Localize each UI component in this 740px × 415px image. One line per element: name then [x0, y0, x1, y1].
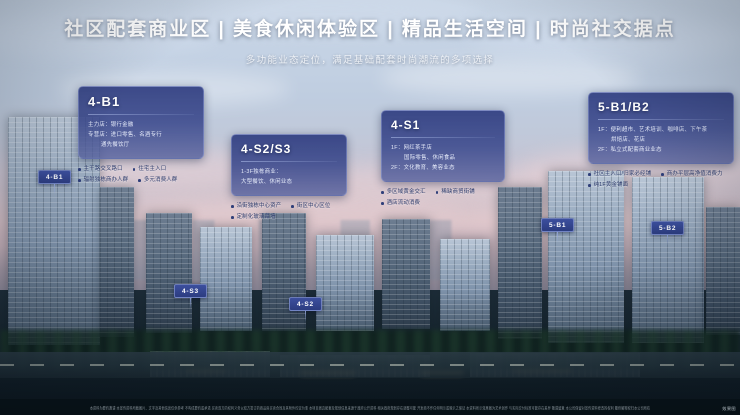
info-card-4-s2-s3[interactable]: 4-S2/S3 1-3F独栋商业： 大型餐饮、休闲业态 沿街独栋中心资产 街区中…: [231, 134, 347, 222]
pin-4-s3[interactable]: 4-S3: [174, 284, 207, 308]
tower-right-d: [632, 177, 704, 343]
card-tag-list: 沿街独栋中心资产 街区中心区位 定制化玻璃幕墙: [231, 202, 347, 222]
card-tag-label: 定制化玻璃幕墙: [237, 213, 276, 222]
bullet-icon: [381, 202, 384, 205]
pin-label: 4-B1: [38, 170, 71, 184]
footer-disclaimer-bar: 本资料为要约邀请 本宣传资料所载图片、文字及其他信息仅供参考 不构成要约或承诺 …: [0, 399, 740, 415]
card-tag: 沿街独栋中心资产: [231, 202, 281, 211]
card-tag-label: 社区主入口/归家必经铺: [594, 170, 652, 179]
card-divider: [391, 137, 495, 138]
card-tag: 社区主入口/归家必经铺: [588, 170, 651, 179]
card-title: 4-S2/S3: [241, 142, 337, 156]
card-tag-label: 住宅主入口: [138, 165, 166, 174]
card-title: 4-S1: [391, 118, 495, 132]
tower-mid-a: [200, 227, 252, 331]
tower-right-b: [498, 187, 542, 339]
card-line: 1-3F独栋商业：: [241, 167, 337, 177]
card-line: 主力店：银行金融: [88, 120, 194, 130]
info-card-5-b1-b2[interactable]: 5-B1/B2 1F：便利超市、艺术培训、咖啡店、下午茶 烘焙店、花店 2F：私…: [588, 92, 734, 190]
card-tag-label: 稀缺商贸街铺: [441, 188, 475, 197]
pin-stem: [54, 184, 55, 194]
card-tag-label: 纯1F黄金铺面: [594, 181, 629, 190]
pin-label: 5-B2: [651, 221, 684, 235]
page-title: 社区配套商业区 | 美食休闲体验区 | 精品生活空间 | 时尚社交据点: [0, 18, 740, 43]
info-card-4-b1[interactable]: 4-B1 主力店：银行金融 专营店：进口零售、名酒专行 通先餐饮厅 主干路交叉路…: [78, 86, 204, 185]
card-tag: 定制化玻璃幕墙: [231, 213, 276, 222]
bullet-icon: [231, 205, 234, 208]
card-line: 专营店：进口零售、名酒专行: [88, 130, 194, 140]
card-body: 4-B1 主力店：银行金融 专营店：进口零售、名酒专行 通先餐饮厅: [78, 86, 204, 159]
card-tag-label: 街区中心区位: [297, 202, 331, 211]
card-line: 1F：便利超市、艺术培训、咖啡店、下午茶: [598, 125, 724, 135]
page-subtitle: 多功能业态定位，满足基础配套时尚潮流的多项选择: [0, 52, 740, 66]
card-tag: 多元消费人群: [138, 176, 177, 185]
card-tag-list: 主干路交叉路口 住宅主入口 辐射独栋商办人群 多元消费人群: [78, 165, 204, 185]
card-line: 通先餐饮厅: [88, 140, 194, 150]
road-marking: [0, 364, 740, 366]
bullet-icon: [661, 173, 664, 176]
card-line: 2F：私立式配套商业业态: [598, 145, 724, 155]
card-divider: [88, 114, 194, 115]
card-tag: 主干路交叉路口: [78, 165, 123, 174]
card-tag: 辐射独栋商办人群: [78, 176, 128, 185]
card-divider: [241, 161, 337, 162]
card-body: 4-S2/S3 1-3F独栋商业： 大型餐饮、休闲业态: [231, 134, 347, 196]
pin-4-s2[interactable]: 4-S2: [289, 297, 322, 321]
card-line: 1F：网红茶手店: [391, 143, 495, 153]
bullet-icon: [231, 216, 234, 219]
card-tag: 住宅主入口: [133, 165, 167, 174]
footer-disclaimer-text: 本资料为要约邀请 本宣传资料所载图片、文字及其他信息仅供参考 不构成要约或承诺 …: [90, 404, 650, 410]
tower-right-a: [440, 239, 490, 331]
bullet-icon: [381, 191, 384, 194]
footer-badge: 效果图: [722, 406, 736, 412]
card-tag: 商办平层高净值消费力: [661, 170, 723, 179]
pin-stem: [305, 311, 306, 321]
bullet-icon: [133, 168, 136, 171]
card-tag-list: 多区域黄金交汇 稀缺商贸街铺 酒店流动消费: [381, 188, 505, 208]
bullet-icon: [78, 179, 81, 182]
tower-right-c: [548, 171, 624, 343]
bullet-icon: [588, 184, 591, 187]
header: 社区配套商业区 | 美食休闲体验区 | 精品生活空间 | 时尚社交据点 多功能业…: [0, 18, 740, 66]
card-tag-label: 多元消费人群: [144, 176, 178, 185]
card-tag-label: 主干路交叉路口: [84, 165, 123, 174]
bullet-icon: [138, 179, 141, 182]
pin-stem: [557, 232, 558, 242]
pin-label: 4-S2: [289, 297, 322, 311]
card-body: 4-S1 1F：网红茶手店 国际零售、休闲食品 2F：文化教育、美容业态: [381, 110, 505, 182]
card-tag: 稀缺商贸街铺: [436, 188, 475, 197]
card-line: 大型餐饮、休闲业态: [241, 177, 337, 187]
pin-4-b1[interactable]: 4-B1: [38, 170, 71, 194]
bullet-icon: [436, 191, 439, 194]
card-tag: 纯1F黄金铺面: [588, 181, 628, 190]
card-title: 5-B1/B2: [598, 100, 724, 114]
tower-left-back: [100, 187, 134, 337]
pin-5-b2[interactable]: 5-B2: [651, 221, 684, 245]
pin-label: 5-B1: [541, 218, 574, 232]
card-line: 国际零售、休闲食品: [391, 153, 495, 163]
tower-far-right: [706, 207, 740, 335]
card-line: 2F：文化教育、美容业态: [391, 163, 495, 173]
card-divider: [598, 119, 724, 120]
card-tag-list: 社区主入口/归家必经铺 商办平层高净值消费力 纯1F黄金铺面: [588, 170, 734, 190]
tower-center-right: [382, 219, 430, 329]
bullet-icon: [291, 205, 294, 208]
pin-stem: [190, 298, 191, 308]
pin-stem: [667, 235, 668, 245]
pin-label: 4-S3: [174, 284, 207, 298]
card-tag: 街区中心区位: [291, 202, 330, 211]
pin-5-b1[interactable]: 5-B1: [541, 218, 574, 242]
presentation-canvas: 社区配套商业区 | 美食休闲体验区 | 精品生活空间 | 时尚社交据点 多功能业…: [0, 0, 740, 415]
card-tag-label: 酒店流动消费: [387, 199, 421, 208]
card-tag-label: 商办平层高净值消费力: [667, 170, 723, 179]
card-line: 烘焙店、花店: [598, 135, 724, 145]
card-tag: 多区域黄金交汇: [381, 188, 426, 197]
card-body: 5-B1/B2 1F：便利超市、艺术培训、咖啡店、下午茶 烘焙店、花店 2F：私…: [588, 92, 734, 164]
tower-midleft: [146, 213, 192, 333]
bullet-icon: [588, 173, 591, 176]
tower-center: [316, 235, 374, 331]
card-tag-label: 多区域黄金交汇: [387, 188, 426, 197]
card-tag-label: 辐射独栋商办人群: [84, 176, 129, 185]
bullet-icon: [78, 168, 81, 171]
card-tag: 酒店流动消费: [381, 199, 420, 208]
card-tag-label: 沿街独栋中心资产: [237, 202, 282, 211]
info-card-4-s1[interactable]: 4-S1 1F：网红茶手店 国际零售、休闲食品 2F：文化教育、美容业态 多区域…: [381, 110, 505, 208]
card-title: 4-B1: [88, 94, 194, 109]
